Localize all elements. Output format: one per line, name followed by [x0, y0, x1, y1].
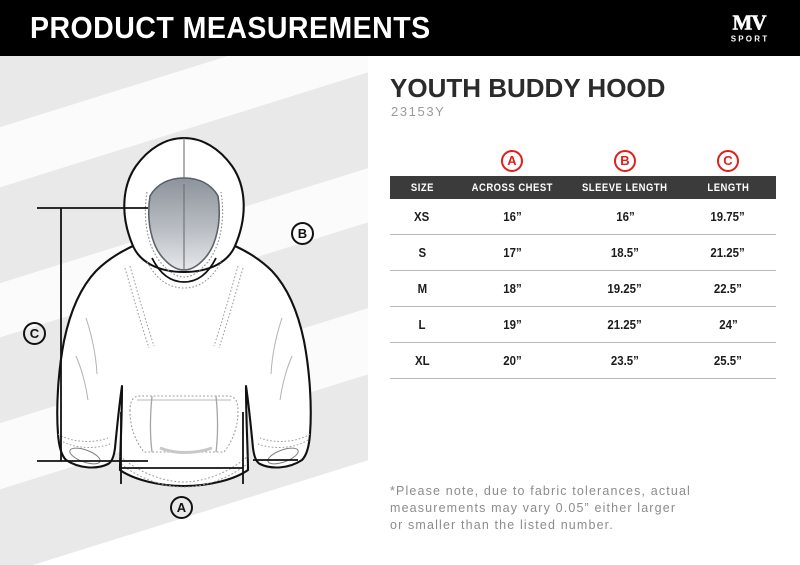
letter-circle-b: B	[614, 150, 636, 172]
garment-illustration-panel: A B C	[0, 56, 368, 565]
mv-sport-logo: MV SPORT	[720, 13, 778, 44]
page-title-text: PRODUCT MEASUREMENTS	[30, 10, 431, 46]
product-info-panel: YOUTH BUDDY HOOD 23153Y A B C SIZE ACROS…	[368, 56, 800, 565]
column-header-length: LENGTH	[680, 176, 776, 199]
cell-size: XL	[390, 343, 454, 379]
hoodie-line-drawing	[0, 56, 368, 565]
cell-across-chest: 20”	[454, 343, 570, 379]
footnote-line-3: or smaller than the listed number.	[390, 517, 782, 534]
product-style-number: 23153Y	[391, 104, 445, 119]
page-title: PRODUCT MEASUREMENTS	[30, 10, 465, 46]
size-table: SIZE ACROSS CHEST SLEEVE LENGTH LENGTH X…	[390, 176, 776, 379]
footnote-line-1: *Please note, due to fabric tolerances, …	[390, 483, 782, 500]
cell-size: M	[390, 271, 454, 307]
table-row: XS 16” 16” 19.75”	[390, 199, 776, 235]
tolerance-footnote: *Please note, due to fabric tolerances, …	[390, 483, 782, 534]
table-row: XL 20” 23.5” 25.5”	[390, 343, 776, 379]
table-row: S 17” 18.5” 21.25”	[390, 235, 776, 271]
letter-circle-c: C	[717, 150, 739, 172]
cell-length: 24”	[680, 307, 776, 343]
cell-size: S	[390, 235, 454, 271]
cell-length: 25.5”	[680, 343, 776, 379]
cell-length: 21.25”	[680, 235, 776, 271]
logo-sport-text: SPORT	[722, 36, 778, 44]
cell-sleeve-length: 21.25”	[570, 307, 680, 343]
cell-length: 19.75”	[680, 199, 776, 235]
table-header-row: SIZE ACROSS CHEST SLEEVE LENGTH LENGTH	[390, 176, 776, 199]
callout-b: B	[291, 222, 314, 245]
page-header: PRODUCT MEASUREMENTS MV SPORT	[0, 0, 800, 56]
cell-sleeve-length: 16”	[570, 199, 680, 235]
cell-size: XS	[390, 199, 454, 235]
cell-sleeve-length: 19.25”	[570, 271, 680, 307]
callout-c: C	[23, 322, 46, 345]
footnote-line-2: measurements may vary 0.05” either large…	[390, 500, 782, 517]
letter-circle-a: A	[501, 150, 523, 172]
cell-across-chest: 18”	[454, 271, 570, 307]
size-chart: A B C SIZE ACROSS CHEST SLEEVE LENGTH LE…	[390, 144, 776, 379]
cell-across-chest: 19”	[454, 307, 570, 343]
table-row: M 18” 19.25” 22.5”	[390, 271, 776, 307]
cell-length: 22.5”	[680, 271, 776, 307]
cell-across-chest: 17”	[454, 235, 570, 271]
column-header-size: SIZE	[390, 176, 454, 199]
column-header-across-chest: ACROSS CHEST	[454, 176, 570, 199]
cell-size: L	[390, 307, 454, 343]
product-name: YOUTH BUDDY HOOD	[390, 73, 665, 104]
column-header-sleeve-length: SLEEVE LENGTH	[570, 176, 680, 199]
cell-across-chest: 16”	[454, 199, 570, 235]
callout-a: A	[170, 496, 193, 519]
measurement-letter-row: A B C	[390, 144, 776, 176]
cell-sleeve-length: 23.5”	[570, 343, 680, 379]
logo-mv-text: MV	[720, 13, 778, 34]
table-row: L 19” 21.25” 24”	[390, 307, 776, 343]
cell-sleeve-length: 18.5”	[570, 235, 680, 271]
